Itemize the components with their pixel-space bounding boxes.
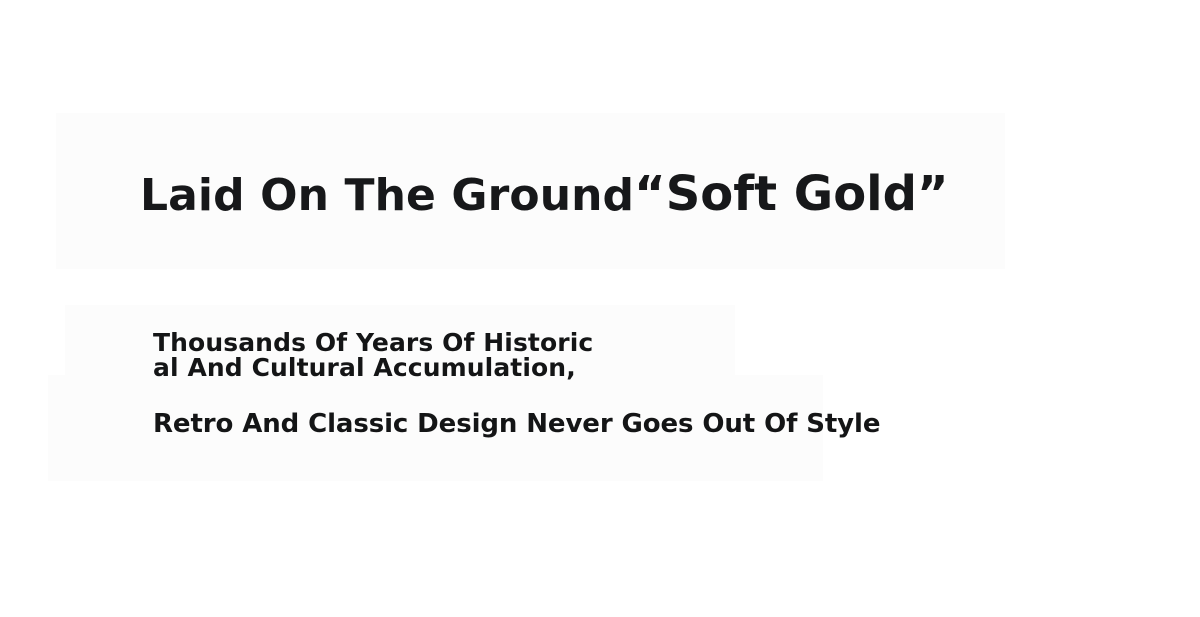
- slide-canvas: Laid On The Ground“Soft Gold” Thousands …: [0, 0, 1200, 617]
- body-paragraph-primary-line-1: Thousands Of Years Of Historic: [153, 330, 623, 355]
- page-title: Laid On The Ground“Soft Gold”: [140, 168, 949, 222]
- page-title-lead: Laid On The Ground: [140, 170, 634, 221]
- body-paragraph-primary: Thousands Of Years Of Historic al And Cu…: [153, 330, 623, 380]
- body-paragraph-primary-line-2: al And Cultural Accumulation,: [153, 355, 623, 380]
- body-paragraph-secondary-line-1: Retro And Classic Design Never Goes Out …: [153, 409, 880, 439]
- page-title-quoted: “Soft Gold”: [634, 166, 948, 222]
- body-paragraph-secondary: Retro And Classic Design Never Goes Out …: [153, 409, 880, 439]
